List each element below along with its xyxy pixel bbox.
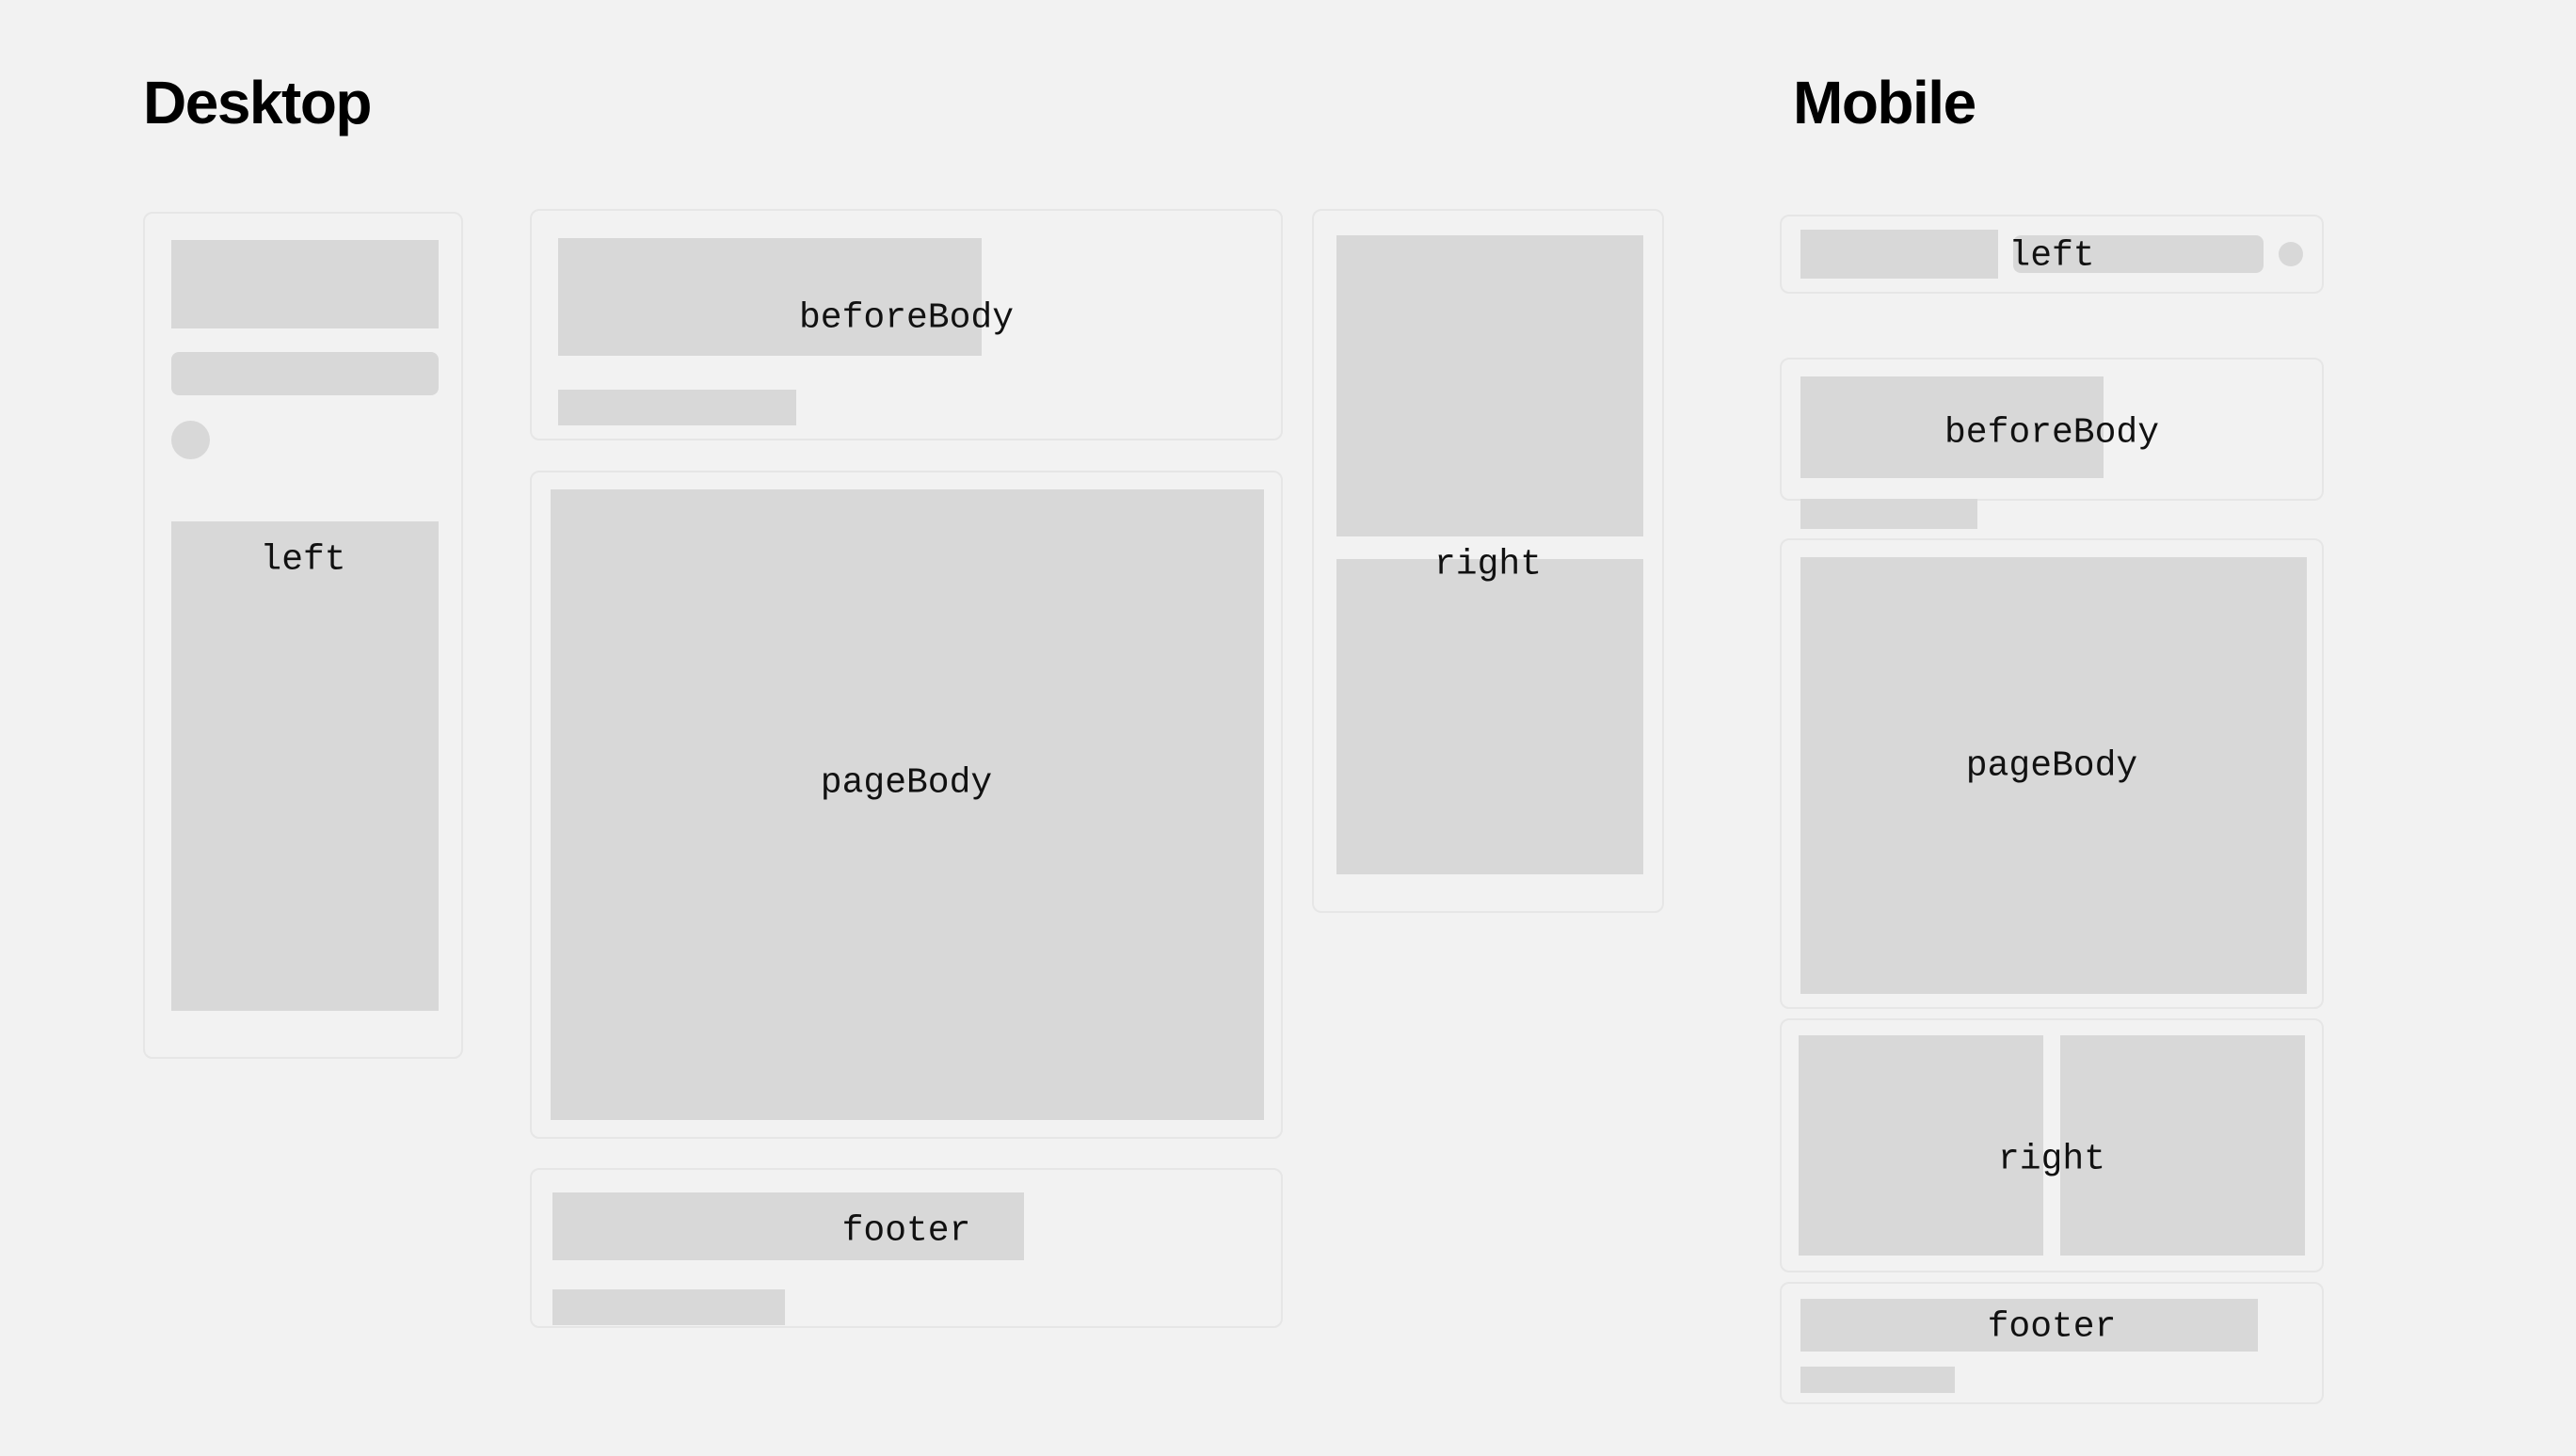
desktop-section-title: Desktop	[143, 68, 371, 137]
skeleton-block	[1800, 376, 2104, 478]
skeleton-bar	[1800, 1367, 1955, 1393]
skeleton-block	[1336, 559, 1643, 874]
mobile-left-row	[1800, 232, 2303, 277]
skeleton-block	[558, 238, 982, 356]
desktop-left-card[interactable]	[143, 212, 463, 1059]
skeleton-block	[1800, 557, 2307, 994]
desktop-pagebody-card[interactable]	[530, 471, 1283, 1139]
skeleton-block	[551, 489, 1264, 1120]
skeleton-bar	[558, 390, 796, 425]
skeleton-bar	[171, 352, 439, 395]
mobile-section-title: Mobile	[1793, 68, 1976, 137]
mobile-left-card[interactable]	[1780, 215, 2324, 294]
skeleton-bar	[552, 1289, 785, 1325]
skeleton-block	[1800, 1299, 2258, 1352]
skeleton-block	[171, 240, 439, 328]
skeleton-block	[552, 1192, 1024, 1260]
skeleton-block	[171, 521, 439, 1011]
mobile-pagebody-card[interactable]	[1780, 538, 2324, 1009]
desktop-footer-card[interactable]	[530, 1168, 1283, 1328]
mobile-beforebody-card[interactable]	[1780, 358, 2324, 501]
skeleton-block	[1336, 235, 1643, 536]
skeleton-block	[1800, 230, 1998, 279]
mobile-right-row	[1799, 1035, 2305, 1256]
mobile-right-card[interactable]	[1780, 1018, 2324, 1272]
skeleton-bar	[2013, 235, 2264, 273]
mobile-footer-card[interactable]	[1780, 1282, 2324, 1404]
skeleton-block	[2060, 1035, 2305, 1256]
skeleton-avatar-circle	[2279, 242, 2303, 266]
skeleton-block	[1799, 1035, 2043, 1256]
skeleton-bar	[1800, 499, 1977, 529]
desktop-beforebody-card[interactable]	[530, 209, 1283, 440]
skeleton-avatar-circle	[171, 421, 210, 459]
desktop-right-card[interactable]	[1312, 209, 1664, 913]
layout-preview-stage: Desktop left beforeBody pageBody footer …	[0, 0, 2576, 1456]
